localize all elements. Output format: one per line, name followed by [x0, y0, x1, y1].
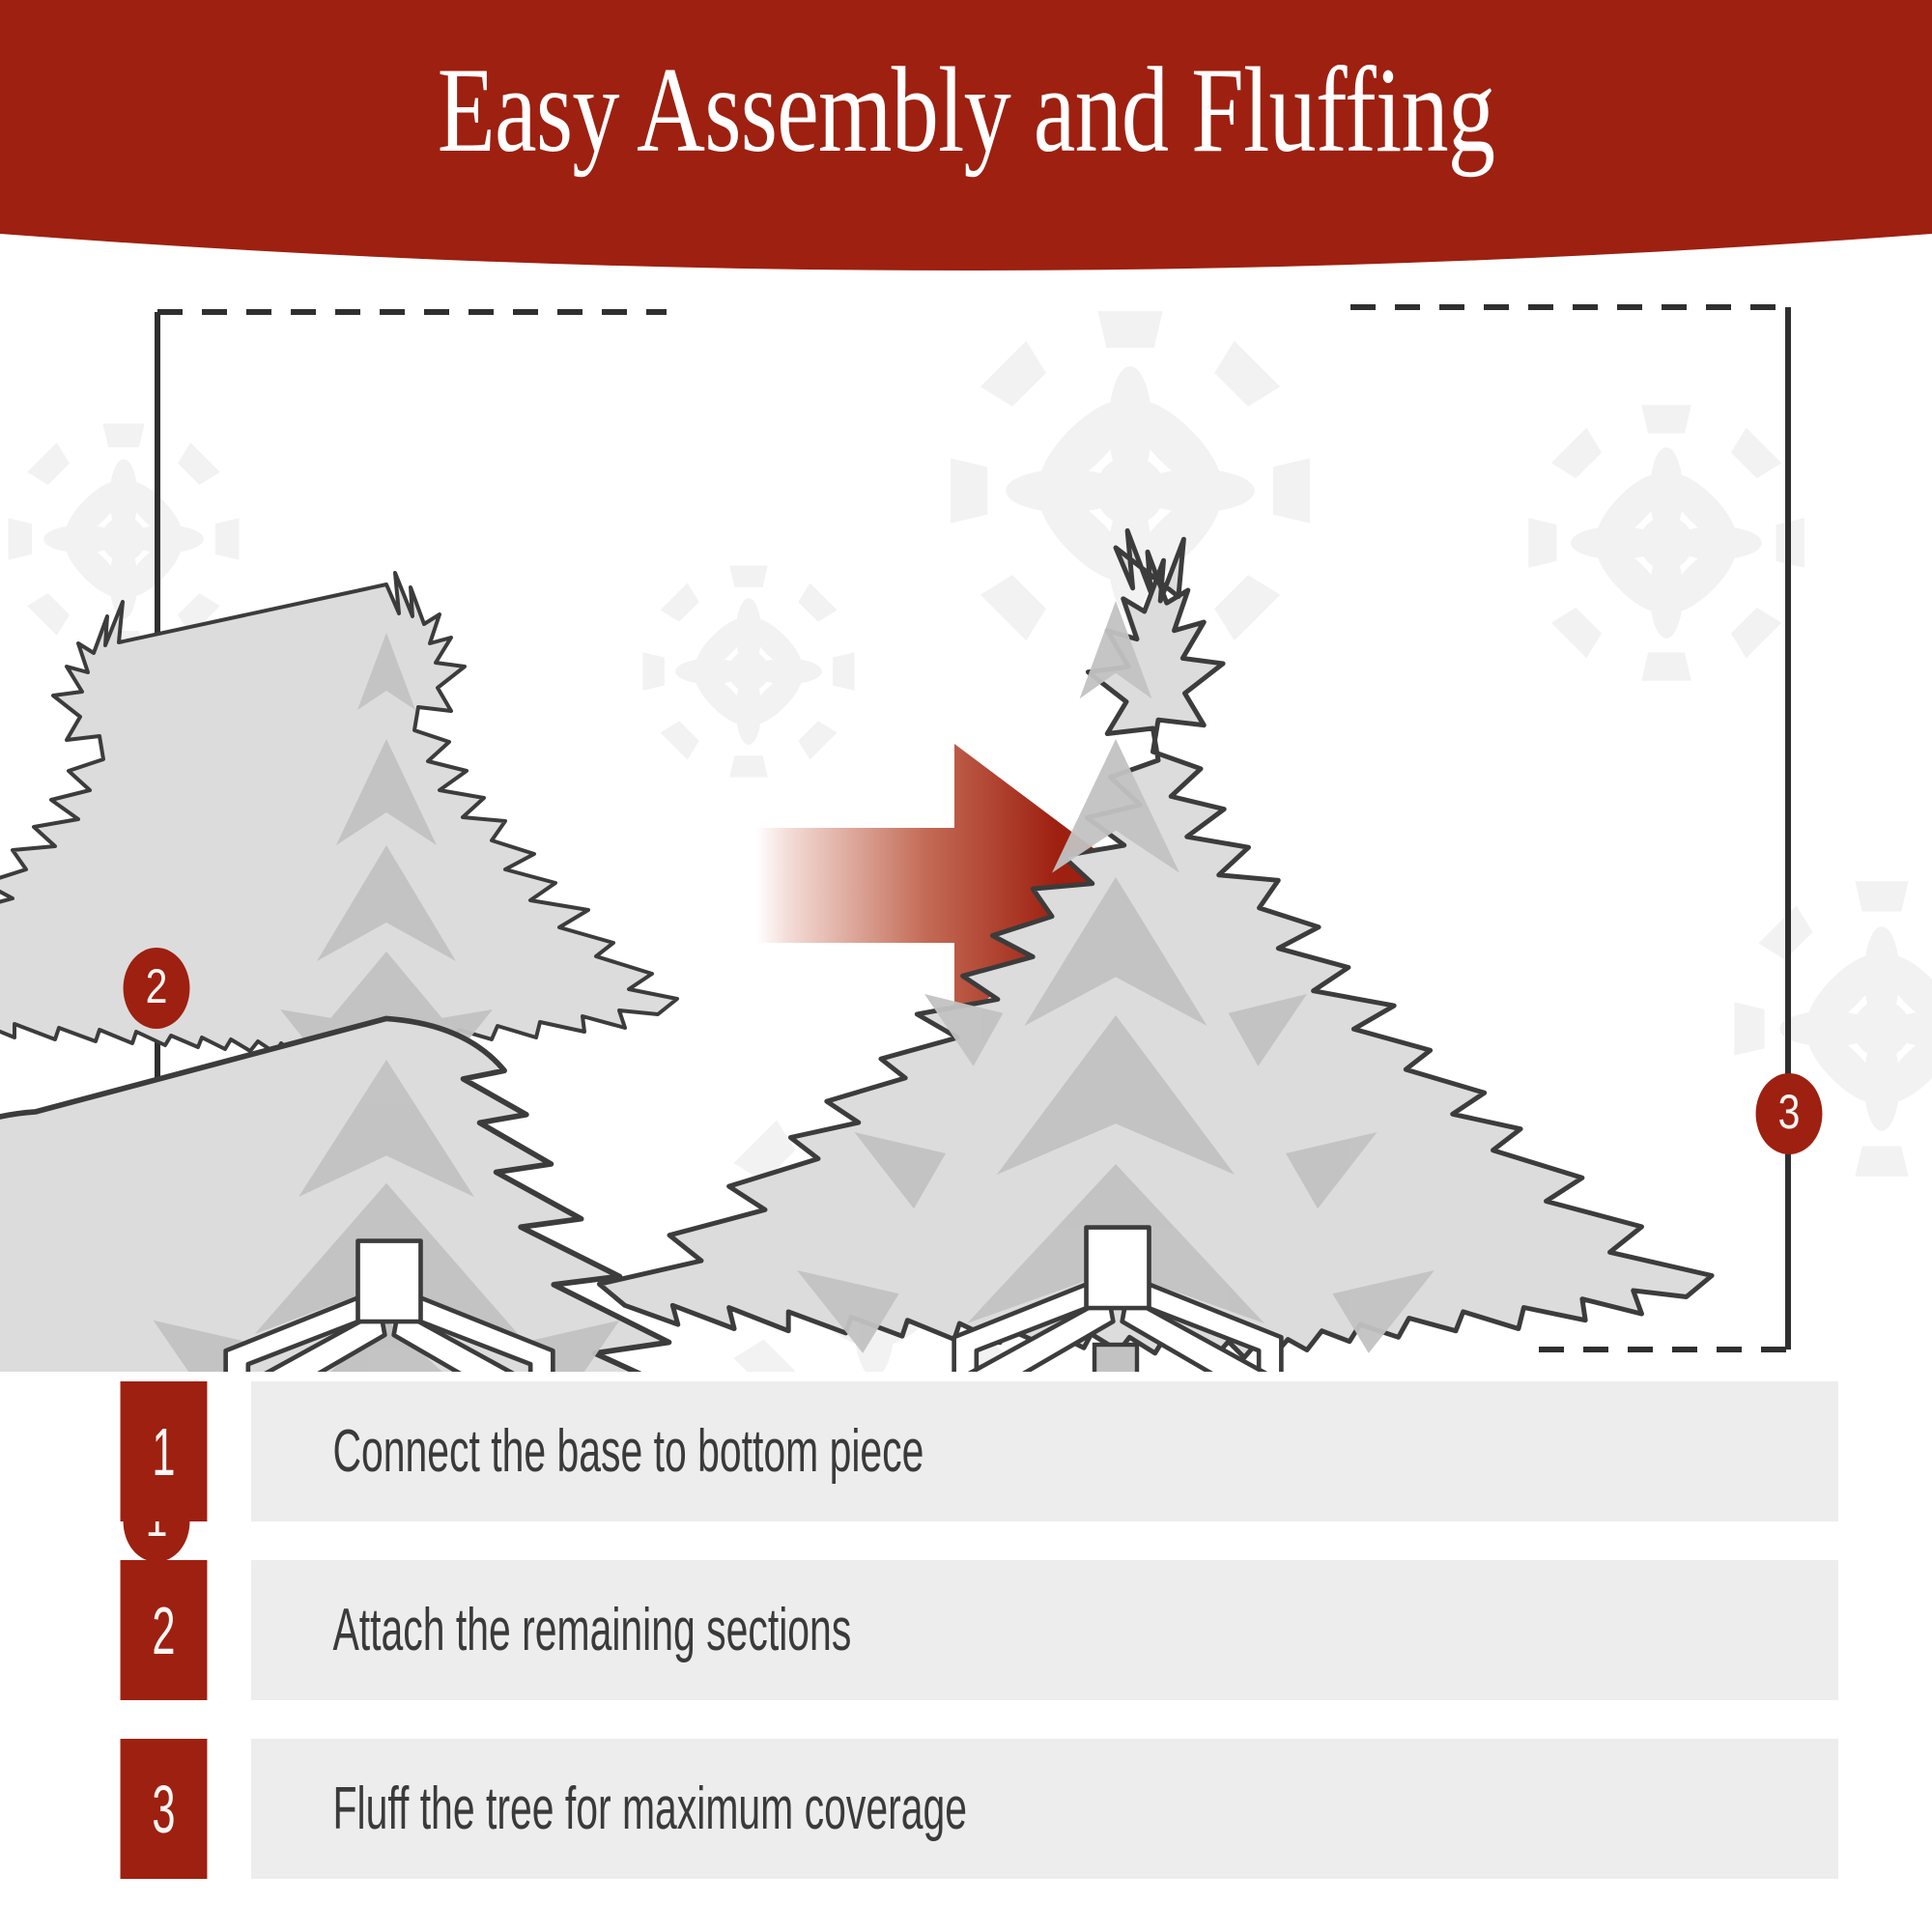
step-text-2: Attach the remaining sections: [251, 1596, 851, 1664]
step-badge-2: 2: [121, 1560, 208, 1700]
step-badge-1: 1: [121, 1381, 208, 1521]
step-bar-3: Fluff the tree for maximum coverage: [251, 1739, 1838, 1879]
assembly-diagram: 1 2 3: [0, 290, 1932, 1372]
step-row-1: 1 Connect the base to bottom piece: [0, 1381, 1932, 1521]
step-text-1: Connect the base to bottom piece: [251, 1417, 923, 1486]
diagram-artwork: [0, 290, 1932, 1372]
infographic-root: Easy Assembly and Fluffing: [0, 0, 1932, 1932]
step-text-3: Fluff the tree for maximum coverage: [251, 1775, 967, 1843]
header-banner: Easy Assembly and Fluffing: [0, 0, 1932, 290]
step-bar-2: Attach the remaining sections: [251, 1560, 1838, 1700]
diagram-marker-2-label: 2: [146, 962, 168, 1010]
assembly-step-list: 1 Connect the base to bottom piece 2 Att…: [0, 1381, 1932, 1918]
step-row-2: 2 Attach the remaining sections: [0, 1560, 1932, 1700]
diagram-marker-2[interactable]: 2: [124, 948, 190, 1029]
step-bar-1: Connect the base to bottom piece: [251, 1381, 1838, 1521]
diagram-marker-3[interactable]: 3: [1756, 1073, 1823, 1154]
page-title: Easy Assembly and Fluffing: [213, 50, 1719, 172]
diagram-marker-3-label: 3: [1778, 1088, 1801, 1136]
step-row-3: 3 Fluff the tree for maximum coverage: [0, 1739, 1932, 1879]
assembled-fluffed-tree: [599, 530, 1712, 1372]
step-badge-3: 3: [121, 1739, 208, 1879]
